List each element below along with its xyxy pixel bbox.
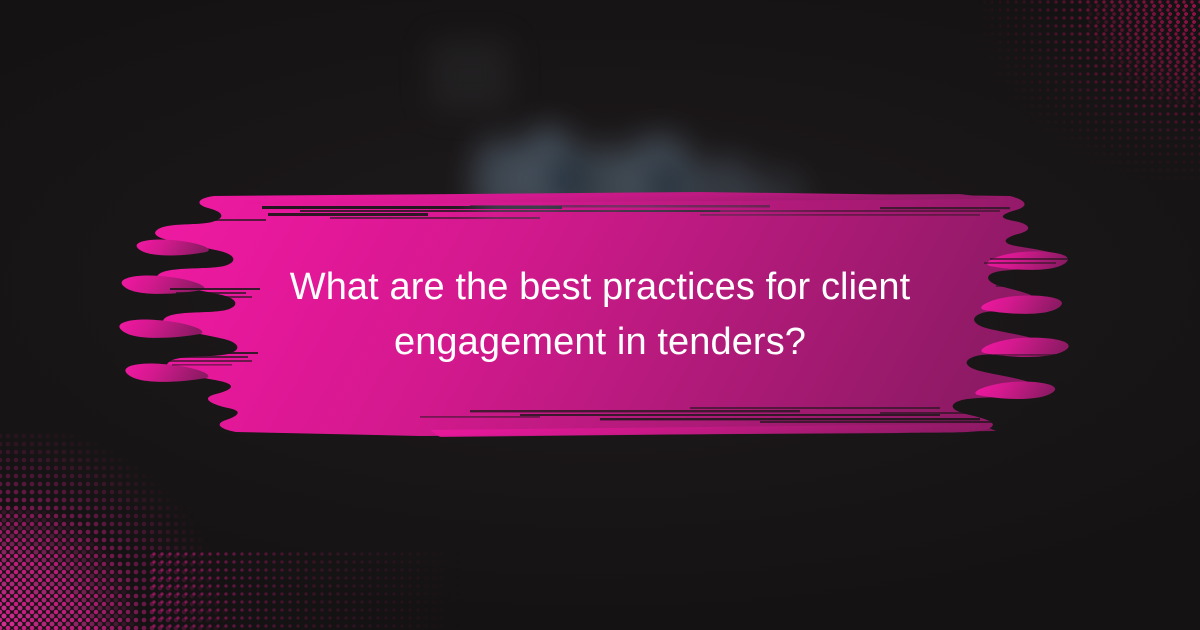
headline-container: What are the best practices for client e… (0, 0, 1200, 630)
question-card: What are the best practices for client e… (0, 0, 1200, 630)
question-headline: What are the best practices for client e… (270, 260, 930, 370)
